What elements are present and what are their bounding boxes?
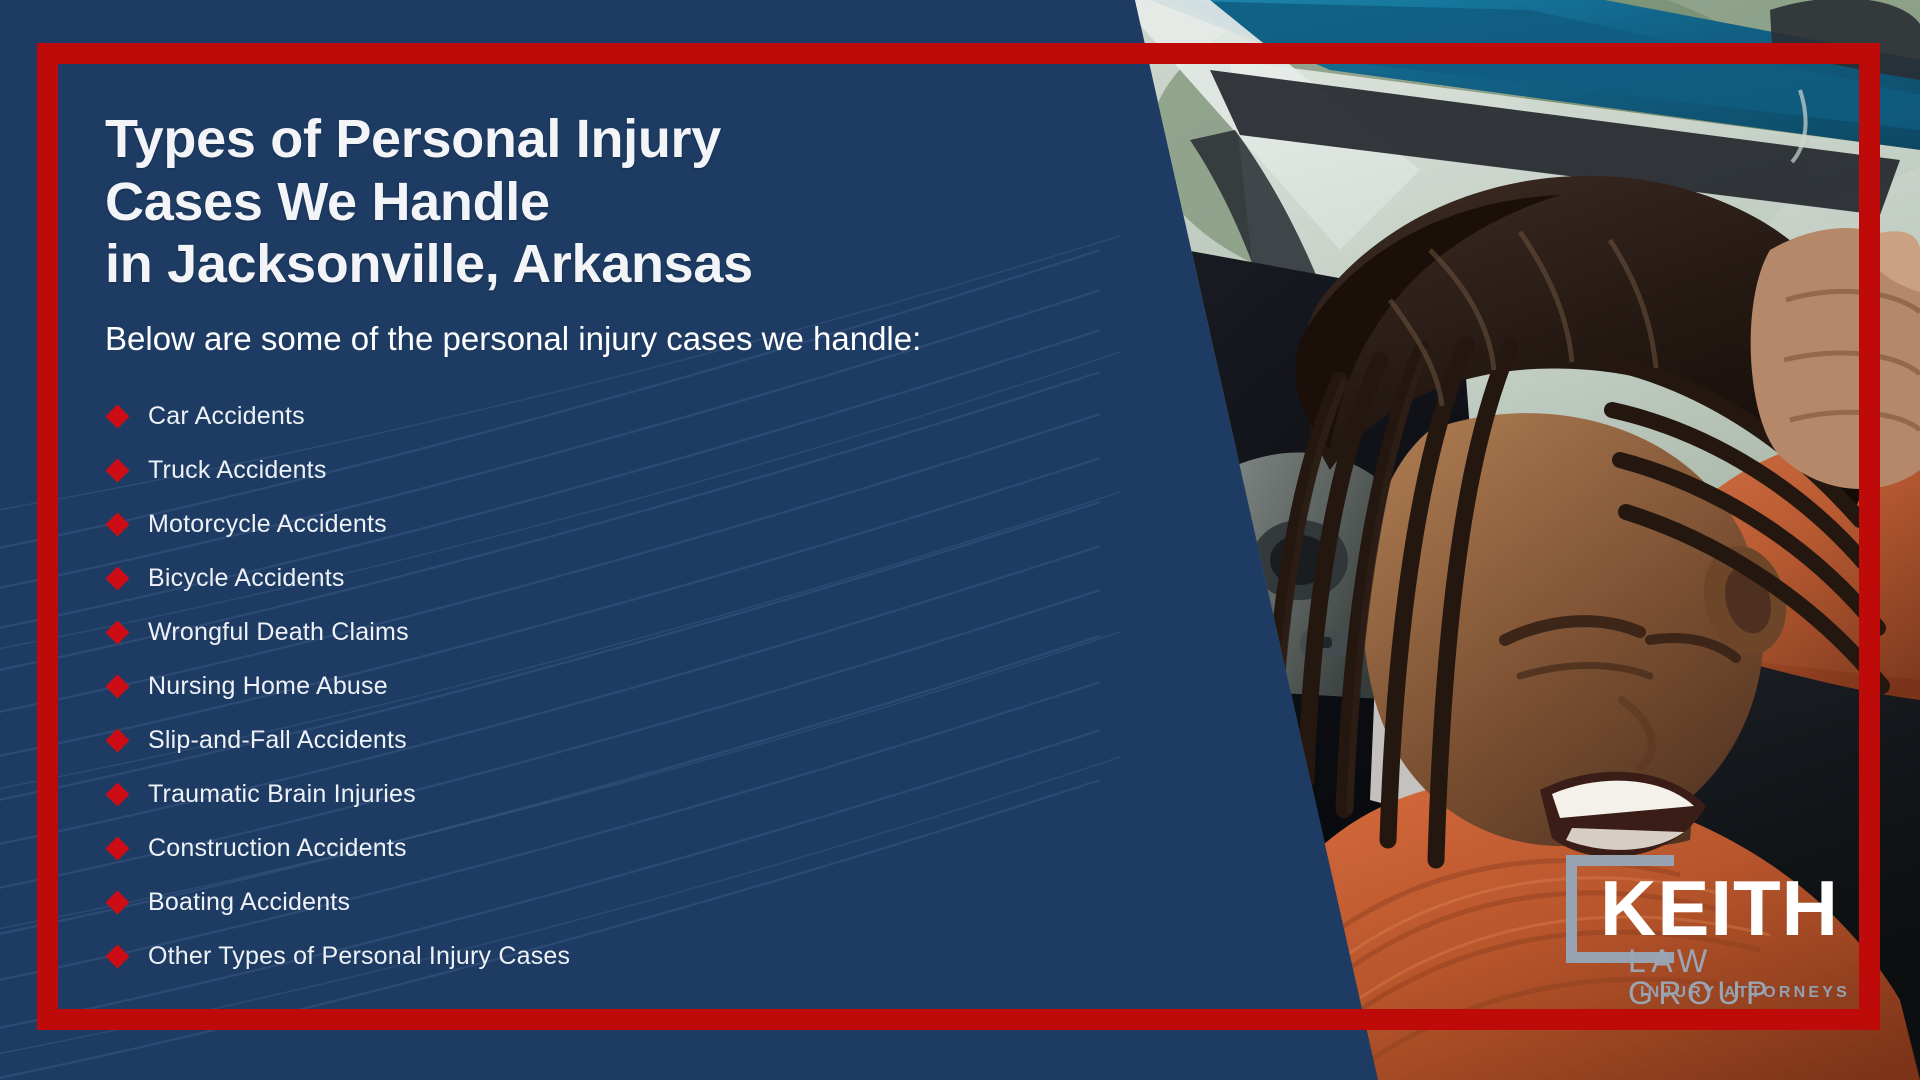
list-item: Wrongful Death Claims <box>105 605 1005 659</box>
list-item-label: Truck Accidents <box>148 456 327 485</box>
list-item-label: Construction Accidents <box>148 834 407 863</box>
list-item: Other Types of Personal Injury Cases <box>105 929 1005 983</box>
diamond-bullet-icon <box>105 458 129 482</box>
case-types-list: Car Accidents Truck Accidents Motorcycle… <box>105 389 1005 983</box>
logo-tagline: INJURY ATTORNEYS <box>1640 985 1850 1001</box>
list-item: Car Accidents <box>105 389 1005 443</box>
list-item: Nursing Home Abuse <box>105 659 1005 713</box>
diamond-bullet-icon <box>105 728 129 752</box>
headline-line-2: Cases We Handle <box>105 171 1005 234</box>
list-item-label: Traumatic Brain Injuries <box>148 780 416 809</box>
list-item-label: Slip-and-Fall Accidents <box>148 726 407 755</box>
list-item: Boating Accidents <box>105 875 1005 929</box>
list-item-label: Other Types of Personal Injury Cases <box>148 942 570 971</box>
list-item-label: Bicycle Accidents <box>148 564 345 593</box>
list-item: Motorcycle Accidents <box>105 497 1005 551</box>
diamond-bullet-icon <box>105 944 129 968</box>
list-item-label: Nursing Home Abuse <box>148 672 388 701</box>
list-item: Slip-and-Fall Accidents <box>105 713 1005 767</box>
list-item: Truck Accidents <box>105 443 1005 497</box>
promotional-banner: Types of Personal Injury Cases We Handle… <box>0 0 1920 1080</box>
list-item-label: Wrongful Death Claims <box>148 618 409 647</box>
content-column: Types of Personal Injury Cases We Handle… <box>105 108 1005 983</box>
diamond-bullet-icon <box>105 782 129 806</box>
list-item-label: Motorcycle Accidents <box>148 510 387 539</box>
list-item-label: Boating Accidents <box>148 888 350 917</box>
diamond-bullet-icon <box>105 890 129 914</box>
list-item: Bicycle Accidents <box>105 551 1005 605</box>
headline-line-3: in Jacksonville, Arkansas <box>105 233 1005 296</box>
diamond-bullet-icon <box>105 620 129 644</box>
diamond-bullet-icon <box>105 674 129 698</box>
list-item: Construction Accidents <box>105 821 1005 875</box>
list-item: Traumatic Brain Injuries <box>105 767 1005 821</box>
diamond-bullet-icon <box>105 836 129 860</box>
diamond-bullet-icon <box>105 566 129 590</box>
diamond-bullet-icon <box>105 512 129 536</box>
diamond-bullet-icon <box>105 404 129 428</box>
logo-name: KEITH <box>1600 869 1839 947</box>
list-item-label: Car Accidents <box>148 402 305 431</box>
subheading: Below are some of the personal injury ca… <box>105 318 1005 359</box>
page-title: Types of Personal Injury Cases We Handle… <box>105 108 1005 296</box>
headline-line-1: Types of Personal Injury <box>105 108 1005 171</box>
keith-law-group-logo: KEITH LAW GROUP INJURY ATTORNEYS <box>1566 855 1866 1005</box>
